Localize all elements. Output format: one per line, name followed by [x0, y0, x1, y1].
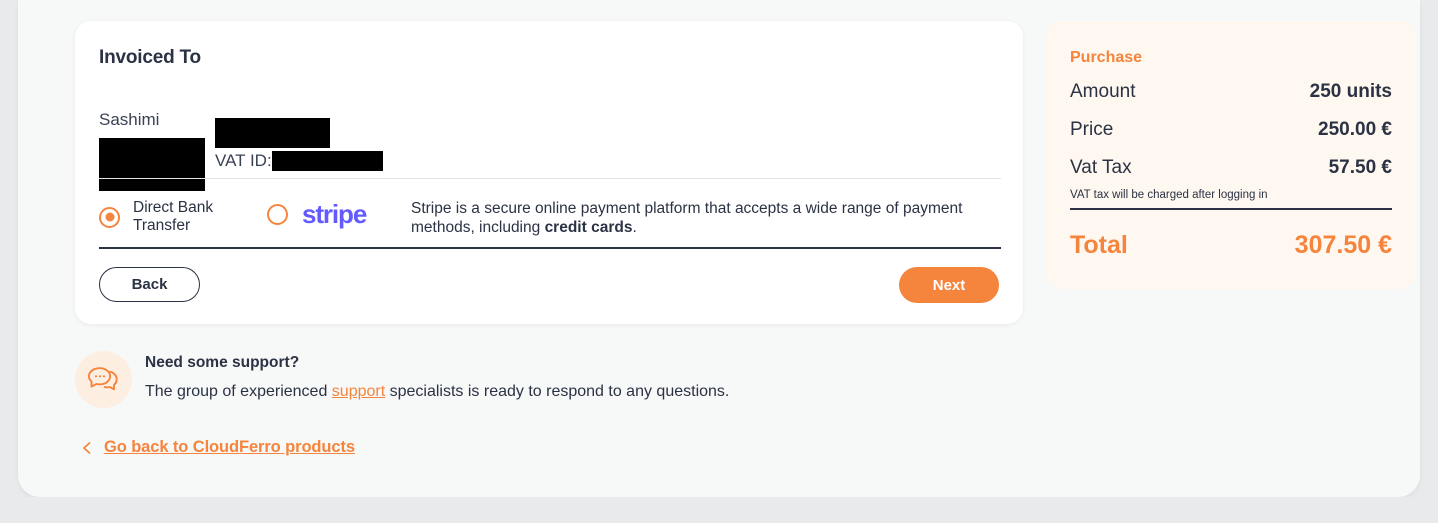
support-title: Need some support?	[145, 354, 299, 372]
payment-option-bank-transfer[interactable]: Direct Bank Transfer	[99, 199, 237, 235]
page-container: Invoiced To Sashimi VAT ID: Direct Bank …	[18, 0, 1420, 497]
redacted-address	[99, 138, 205, 191]
summary-row-price: Price 250.00 €	[1070, 119, 1392, 141]
summary-label-vat-tax: Vat Tax	[1070, 157, 1132, 179]
section-divider-top	[99, 178, 1001, 179]
payment-option-bank-label: Direct Bank Transfer	[133, 199, 237, 235]
summary-label-total: Total	[1070, 231, 1128, 260]
support-body: The group of experienced support special…	[145, 383, 729, 401]
summary-divider	[1070, 208, 1392, 210]
support-link[interactable]: support	[332, 383, 385, 400]
vat-note: VAT tax will be charged after logging in	[1070, 189, 1268, 201]
summary-title: Purchase	[1070, 49, 1142, 67]
radio-unselected-icon[interactable]	[267, 204, 288, 225]
summary-label-amount: Amount	[1070, 81, 1135, 103]
page-background-strip	[0, 497, 1438, 523]
payment-option-stripe[interactable]: stripe	[267, 199, 366, 230]
chat-bubbles-icon	[75, 351, 132, 408]
radio-selected-icon[interactable]	[99, 207, 120, 228]
redacted-vat-id	[272, 151, 383, 171]
summary-row-amount: Amount 250 units	[1070, 81, 1392, 103]
summary-row-total: Total 307.50 €	[1070, 231, 1392, 260]
stripe-description-highlight: credit cards	[545, 219, 633, 236]
page-title: Invoiced To	[99, 47, 201, 69]
support-section: Need some support? The group of experien…	[75, 351, 975, 409]
go-back-link[interactable]: Go back to CloudFerro products	[80, 438, 355, 457]
next-button[interactable]: Next	[899, 267, 999, 303]
summary-value-total: 307.50 €	[1295, 231, 1392, 260]
invoiced-to-block: Sashimi VAT ID:	[99, 89, 999, 179]
chevron-left-icon	[80, 441, 94, 455]
summary-value-price: 250.00 €	[1318, 119, 1392, 141]
payment-method-group: Direct Bank Transfer stripe Stripe is a …	[99, 199, 1001, 247]
summary-value-vat-tax: 57.50 €	[1329, 157, 1392, 179]
summary-label-price: Price	[1070, 119, 1113, 141]
redacted-detail-line	[215, 118, 330, 148]
stripe-logo: stripe	[302, 199, 366, 230]
purchase-summary-card: Purchase Amount 250 units Price 250.00 €…	[1046, 21, 1416, 289]
section-divider-bottom	[99, 247, 1001, 249]
back-button[interactable]: Back	[99, 267, 200, 302]
support-body-part2: specialists is ready to respond to any q…	[385, 383, 729, 400]
company-name: Sashimi	[99, 110, 159, 130]
support-body-part1: The group of experienced	[145, 383, 332, 400]
summary-value-amount: 250 units	[1310, 81, 1392, 103]
go-back-link-label: Go back to CloudFerro products	[104, 438, 355, 457]
summary-row-vat-tax: Vat Tax 57.50 €	[1070, 157, 1392, 179]
stripe-description-part2: .	[632, 219, 636, 236]
stripe-description-part1: Stripe is a secure online payment platfo…	[411, 200, 962, 236]
checkout-card: Invoiced To Sashimi VAT ID: Direct Bank …	[75, 21, 1023, 324]
vat-id-label: VAT ID:	[215, 151, 272, 171]
stripe-description: Stripe is a secure online payment platfo…	[411, 199, 1011, 237]
